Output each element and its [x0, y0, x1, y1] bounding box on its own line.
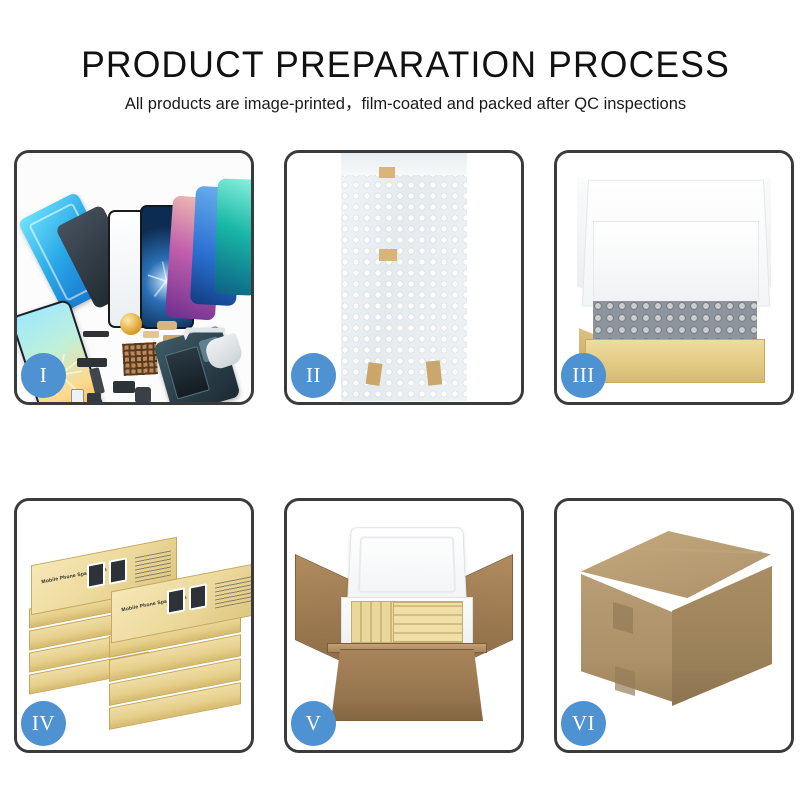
process-step-panel-5: V	[284, 498, 524, 753]
step-badge-2: II	[291, 353, 336, 398]
packed-gold-boxes-icon	[393, 602, 463, 642]
step-badge-1: I	[21, 353, 66, 398]
box-product-photo-icon	[87, 561, 105, 588]
page-subtitle: All products are image-printed，film-coat…	[0, 96, 811, 113]
gold-box-front-icon	[585, 339, 765, 383]
process-step-panel-2: II	[284, 150, 524, 405]
process-steps-grid: I II	[14, 150, 797, 753]
gold-box-stack-icon: Mobile Phone Spare Parts Mobile Phone Sp…	[23, 519, 247, 735]
process-step-panel-6: VI	[554, 498, 794, 753]
sim-tray-part-icon	[71, 389, 84, 402]
page-title: PRODUCT PREPARATION PROCESS	[16, 46, 795, 83]
gold-contact-part-icon	[143, 331, 159, 338]
gold-flex-part-icon	[157, 321, 177, 330]
foam-cooler-lid-icon	[347, 527, 467, 603]
bracket-part-icon	[77, 358, 107, 367]
bubble-bag-top-icon	[341, 153, 467, 175]
foam-sheet-icon	[593, 221, 759, 303]
process-step-panel-4: Mobile Phone Spare Parts Mobile Phone Sp…	[14, 498, 254, 753]
bubble-wrap-bag-icon	[341, 159, 467, 401]
process-step-panel-1: I	[14, 150, 254, 405]
tape-piece-icon	[379, 249, 397, 261]
carton-front-icon	[331, 649, 483, 721]
teal-display-icon	[214, 178, 251, 295]
chip-grid-icon	[122, 342, 158, 376]
speaker-part-icon	[135, 387, 151, 402]
box-product-photo-icon	[109, 557, 127, 584]
camera-part-icon	[87, 393, 101, 402]
step-badge-5: V	[291, 701, 336, 746]
carton-tape-patch-icon	[615, 666, 635, 696]
module-part-icon	[113, 381, 135, 393]
product-preparation-process-page: PRODUCT PREPARATION PROCESS All products…	[0, 0, 811, 811]
gold-coin-part-icon	[120, 313, 142, 335]
box-product-photo-icon	[167, 587, 185, 614]
process-step-panel-3: III	[554, 150, 794, 405]
step-badge-6: VI	[561, 701, 606, 746]
page-header: PRODUCT PREPARATION PROCESS All products…	[0, 0, 811, 113]
bubble-wrapped-units-icon	[593, 301, 757, 341]
tape-piece-icon	[379, 167, 395, 178]
box-product-photo-icon	[189, 583, 207, 610]
connector-part-icon	[83, 331, 109, 337]
step-badge-4: IV	[21, 701, 66, 746]
tape-piece-icon	[426, 360, 442, 385]
step-badge-3: III	[561, 353, 606, 398]
